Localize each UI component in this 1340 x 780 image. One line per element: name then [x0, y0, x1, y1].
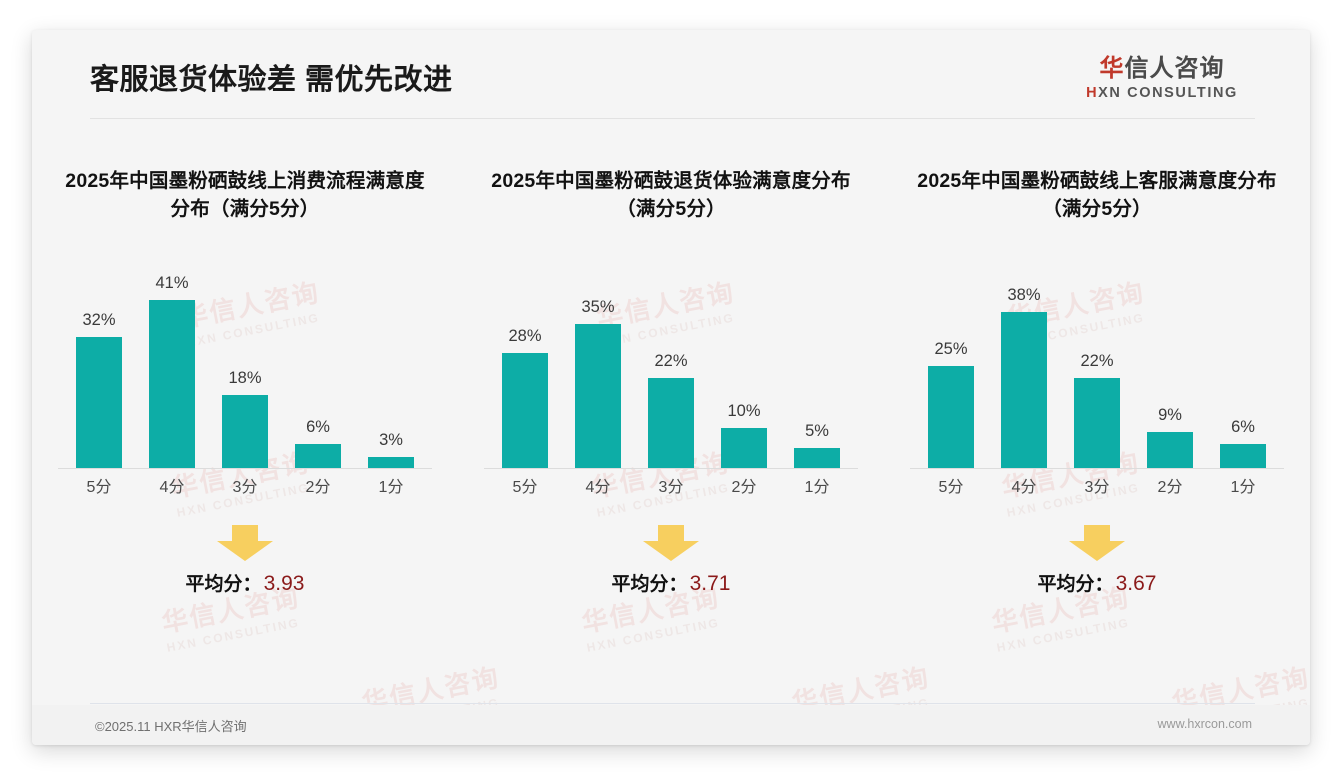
bar-value-label: 32%: [82, 311, 115, 330]
chart-title: 2025年中国墨粉硒鼓线上消费流程满意度分布（满分5分）: [60, 168, 430, 223]
bar-value-label: 25%: [934, 340, 967, 359]
bar-item[interactable]: 38%: [991, 247, 1057, 469]
bar-value-label: 6%: [1231, 418, 1255, 437]
bar-rect[interactable]: [794, 448, 840, 469]
logo-cn-highlight: 华: [1100, 55, 1125, 82]
footer-website[interactable]: www.hxrcon.com: [1158, 717, 1252, 731]
x-axis-tick-label: 3分: [638, 473, 704, 505]
bar-group: 25%38%22%9%6%: [904, 247, 1290, 469]
bar-rect[interactable]: [502, 353, 548, 469]
average-score-block: 平均分：3.93: [95, 523, 395, 596]
average-score-block: 平均分：3.71: [521, 523, 821, 596]
bar-item[interactable]: 22%: [1064, 247, 1130, 469]
bar-rect[interactable]: [575, 324, 621, 469]
bar-item[interactable]: 3%: [358, 247, 424, 469]
chart-title: 2025年中国墨粉硒鼓线上客服满意度分布（满分5分）: [912, 168, 1282, 223]
bar-value-label: 22%: [1080, 352, 1113, 371]
bar-rect[interactable]: [1001, 312, 1047, 469]
average-score-value: 3.67: [1116, 572, 1157, 595]
down-arrow-icon: [95, 523, 395, 563]
average-score-label: 平均分：: [612, 574, 688, 595]
bar-item[interactable]: 5%: [784, 247, 850, 469]
chart-title: 2025年中国墨粉硒鼓退货体验满意度分布（满分5分）: [486, 168, 856, 223]
bar-chart-plot: 28%35%22%10%5%5分4分3分2分1分: [478, 245, 864, 505]
bar-item[interactable]: 25%: [918, 247, 984, 469]
bar-rect[interactable]: [1074, 378, 1120, 469]
bar-group: 28%35%22%10%5%: [478, 247, 864, 469]
x-axis-tick-labels: 5分4分3分2分1分: [904, 473, 1290, 505]
bar-item[interactable]: 9%: [1137, 247, 1203, 469]
bar-rect[interactable]: [76, 337, 122, 469]
average-score-label: 平均分：: [1038, 574, 1114, 595]
bar-value-label: 28%: [508, 327, 541, 346]
x-axis-tick-label: 4分: [565, 473, 631, 505]
bar-group: 32%41%18%6%3%: [52, 247, 438, 469]
x-axis-line: [910, 468, 1284, 469]
charts-container: 2025年中国墨粉硒鼓线上消费流程满意度分布（满分5分）32%41%18%6%3…: [32, 140, 1310, 660]
bar-item[interactable]: 18%: [212, 247, 278, 469]
slide-footer: ©2025.11 HXR华信人咨询 www.hxrcon.com: [32, 705, 1310, 745]
bar-chart-plot: 32%41%18%6%3%5分4分3分2分1分: [52, 245, 438, 505]
x-axis-tick-labels: 5分4分3分2分1分: [52, 473, 438, 505]
x-axis-tick-label: 5分: [492, 473, 558, 505]
chart-column-3: 2025年中国墨粉硒鼓线上客服满意度分布（满分5分）25%38%22%9%6%5…: [884, 140, 1310, 660]
average-score-label: 平均分：: [186, 574, 262, 595]
bar-rect[interactable]: [721, 428, 767, 469]
average-score-text: 平均分：3.93: [95, 569, 395, 596]
bar-rect[interactable]: [222, 395, 268, 469]
footer-copyright: ©2025.11 HXR华信人咨询: [95, 716, 247, 735]
bar-item[interactable]: 6%: [285, 247, 351, 469]
bar-item[interactable]: 22%: [638, 247, 704, 469]
average-score-value: 3.71: [690, 572, 731, 595]
x-axis-tick-label: 3分: [1064, 473, 1130, 505]
x-axis-tick-labels: 5分4分3分2分1分: [478, 473, 864, 505]
bar-chart-plot: 25%38%22%9%6%5分4分3分2分1分: [904, 245, 1290, 505]
x-axis-tick-label: 5分: [66, 473, 132, 505]
slide-card: 华信人咨询HXN CONSULTING华信人咨询HXN CONSULTING华信…: [32, 30, 1310, 745]
bar-value-label: 18%: [228, 369, 261, 388]
average-score-text: 平均分：3.71: [521, 569, 821, 596]
bar-item[interactable]: 35%: [565, 247, 631, 469]
slide-header: 客服退货体验差 需优先改进 华信人咨询 HXN CONSULTING: [32, 30, 1310, 118]
logo-en-rest: XN CONSULTING: [1098, 85, 1238, 101]
average-score-block: 平均分：3.67: [947, 523, 1247, 596]
down-arrow-icon: [947, 523, 1247, 563]
bar-rect[interactable]: [648, 378, 694, 469]
page-title: 客服退货体验差 需优先改进: [90, 56, 453, 98]
bar-value-label: 41%: [155, 274, 188, 293]
bar-item[interactable]: 32%: [66, 247, 132, 469]
bar-value-label: 22%: [654, 352, 687, 371]
down-arrow-icon: [521, 523, 821, 563]
logo-cn-rest: 信人咨询: [1125, 55, 1225, 82]
bar-rect[interactable]: [1147, 432, 1193, 469]
logo-chinese-text: 华信人咨询: [1072, 56, 1252, 82]
x-axis-tick-label: 2分: [285, 473, 351, 505]
bar-value-label: 10%: [727, 402, 760, 421]
x-axis-tick-label: 2分: [711, 473, 777, 505]
x-axis-tick-label: 4分: [139, 473, 205, 505]
average-score-value: 3.93: [264, 572, 305, 595]
x-axis-line: [58, 468, 432, 469]
footer-divider: [90, 703, 1255, 704]
header-divider: [90, 118, 1255, 119]
x-axis-tick-label: 1分: [784, 473, 850, 505]
bar-value-label: 5%: [805, 422, 829, 441]
logo-english-text: HXN CONSULTING: [1072, 85, 1252, 101]
bar-value-label: 9%: [1158, 406, 1182, 425]
x-axis-tick-label: 4分: [991, 473, 1057, 505]
bar-item[interactable]: 28%: [492, 247, 558, 469]
bar-item[interactable]: 6%: [1210, 247, 1276, 469]
bar-value-label: 3%: [379, 431, 403, 450]
bar-value-label: 38%: [1007, 286, 1040, 305]
x-axis-tick-label: 1分: [1210, 473, 1276, 505]
bar-value-label: 35%: [581, 298, 614, 317]
x-axis-tick-label: 2分: [1137, 473, 1203, 505]
chart-column-2: 2025年中国墨粉硒鼓退货体验满意度分布（满分5分）28%35%22%10%5%…: [458, 140, 884, 660]
x-axis-tick-label: 3分: [212, 473, 278, 505]
x-axis-line: [484, 468, 858, 469]
bar-rect[interactable]: [928, 366, 974, 469]
bar-rect[interactable]: [295, 444, 341, 469]
x-axis-tick-label: 5分: [918, 473, 984, 505]
bar-rect[interactable]: [1220, 444, 1266, 469]
brand-logo: 华信人咨询 HXN CONSULTING: [1072, 56, 1252, 101]
bar-item[interactable]: 10%: [711, 247, 777, 469]
logo-en-highlight: H: [1086, 85, 1098, 101]
bar-item[interactable]: 41%: [139, 247, 205, 469]
bar-rect[interactable]: [149, 300, 195, 469]
chart-column-1: 2025年中国墨粉硒鼓线上消费流程满意度分布（满分5分）32%41%18%6%3…: [32, 140, 458, 660]
x-axis-tick-label: 1分: [358, 473, 424, 505]
average-score-text: 平均分：3.67: [947, 569, 1247, 596]
bar-value-label: 6%: [306, 418, 330, 437]
